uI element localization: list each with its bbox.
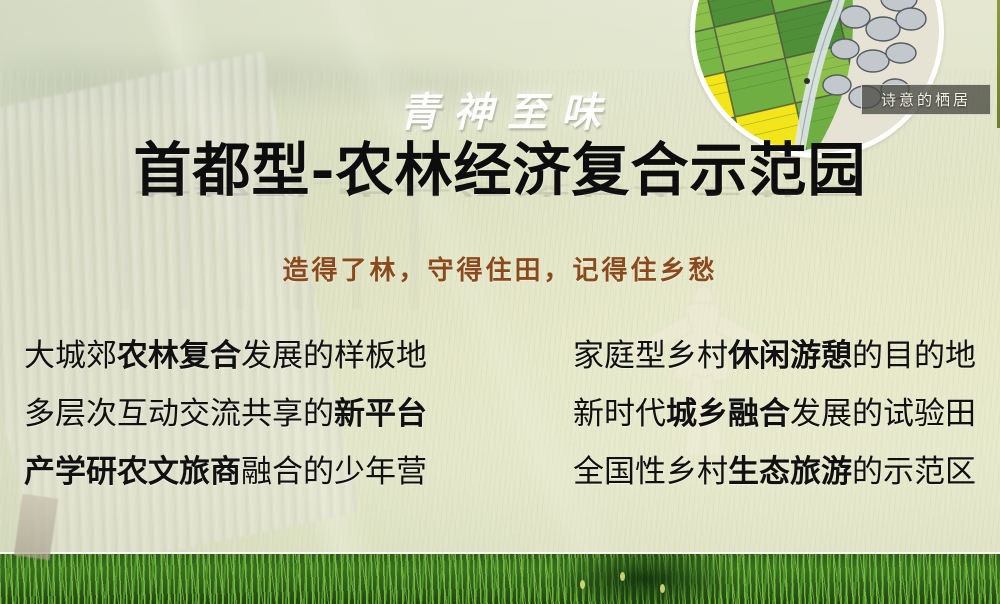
bullet-pre: 多层次互动交流共享的	[24, 396, 334, 432]
bullet-pre: 大城郊	[24, 338, 117, 374]
bullet-strong: 休闲游憩	[728, 338, 852, 374]
bullet-pre: 家庭型乡村	[573, 338, 728, 374]
bullet-strong: 新平台	[334, 396, 427, 432]
bullet-right-1: 家庭型乡村休闲游憩的目的地	[567, 330, 976, 375]
bullet-post: 的示范区	[852, 454, 976, 490]
bullet-row: 产学研农文旅商融合的少年营 全国性乡村生态旅游的示范区	[24, 446, 976, 504]
bullet-strong: 生态旅游	[728, 454, 852, 490]
bullet-post: 发展的试验田	[790, 396, 976, 432]
bullet-strong: 农林复合	[117, 338, 241, 374]
main-title-text: 首都型-农林经济复合示范园	[0, 140, 1000, 201]
bullet-pre: 新时代	[573, 396, 666, 432]
bullet-strong: 城乡融合	[666, 396, 790, 432]
bullet-strong: 产学研农文旅商	[24, 454, 241, 490]
page-title: 首都型-农林经济复合示范园 首都型-农林经济复合示范园	[0, 140, 1000, 258]
calligraphy-headline: 青神至味	[0, 80, 1000, 138]
bullet-left-3: 产学研农文旅商融合的少年营	[24, 446, 427, 491]
bullet-pre: 全国性乡村	[573, 454, 728, 490]
bullet-post: 的目的地	[852, 338, 976, 374]
slogan-text: 造得了林，守得住田，记得住乡愁	[0, 250, 1000, 287]
poster-canvas: 诗意的栖居 青神至味 首都型-农林经济复合示范园 首都型-农林经济复合示范园 造…	[0, 0, 1000, 604]
bullet-left-1: 大城郊农林复合发展的样板地	[24, 330, 427, 375]
bullet-left-2: 多层次互动交流共享的新平台	[24, 388, 427, 433]
bullet-row: 大城郊农林复合发展的样板地 家庭型乡村休闲游憩的目的地	[24, 330, 976, 388]
bullet-post: 发展的样板地	[241, 338, 427, 374]
bullet-row: 多层次互动交流共享的新平台 新时代城乡融合发展的试验田	[24, 388, 976, 446]
bullet-grid: 大城郊农林复合发展的样板地 家庭型乡村休闲游憩的目的地 多层次互动交流共享的新平…	[24, 330, 976, 504]
bullet-right-2: 新时代城乡融合发展的试验田	[567, 388, 976, 433]
bullet-right-3: 全国性乡村生态旅游的示范区	[567, 446, 976, 491]
bullet-post: 融合的少年营	[241, 454, 427, 490]
